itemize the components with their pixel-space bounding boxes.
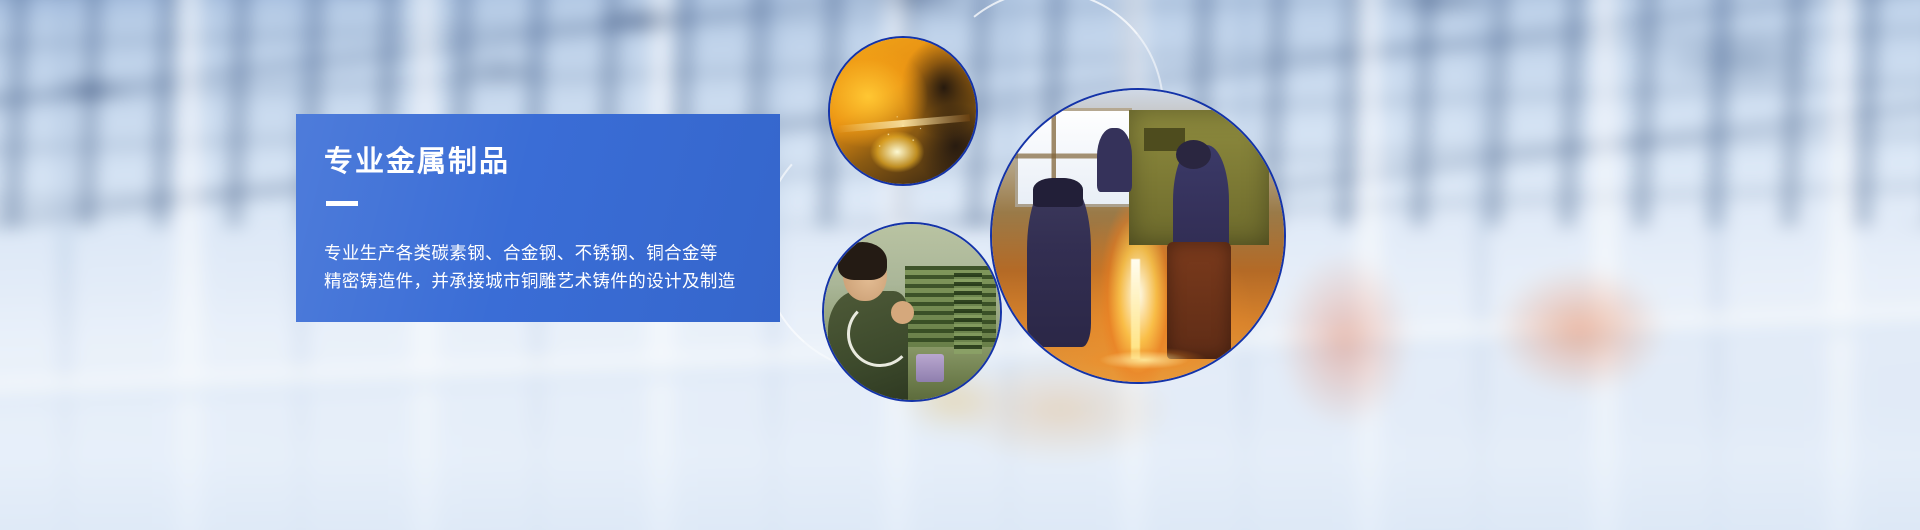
inspected-part: [916, 354, 944, 382]
photo-circle-foundry: [990, 88, 1286, 384]
worker-right-head: [1176, 140, 1211, 169]
casting-tree-secondary: [954, 273, 982, 354]
casting-tree-cluster: [905, 266, 997, 347]
photo-circle-inspection: [822, 222, 1002, 402]
panel-divider: [326, 201, 358, 206]
worker-hand: [891, 301, 914, 324]
worker-background: [1097, 128, 1132, 192]
welding-sparks: [830, 38, 976, 184]
molten-metal-pool: [1080, 347, 1208, 373]
worker-hair: [838, 242, 887, 281]
photo-circle-welding: [828, 36, 978, 186]
worker-left-helmet: [1033, 178, 1083, 207]
panel-title: 专业金属制品: [324, 148, 780, 177]
panel-content: 专业金属制品 专业生产各类碳素钢、合金钢、不锈钢、铜合金等 精密铸造件，并承接城…: [296, 114, 780, 322]
panel-description: 专业生产各类碳素钢、合金钢、不锈钢、铜合金等 精密铸造件，并承接城市铜雕艺术铸件…: [324, 239, 780, 296]
hero-banner: 专业金属制品 专业生产各类碳素钢、合金钢、不锈钢、铜合金等 精密铸造件，并承接城…: [0, 0, 1920, 530]
casting-drum: [1167, 242, 1231, 359]
text-panel: 专业金属制品 专业生产各类碳素钢、合金钢、不锈钢、铜合金等 精密铸造件，并承接城…: [296, 114, 780, 322]
molten-metal-stream: [1131, 259, 1140, 358]
